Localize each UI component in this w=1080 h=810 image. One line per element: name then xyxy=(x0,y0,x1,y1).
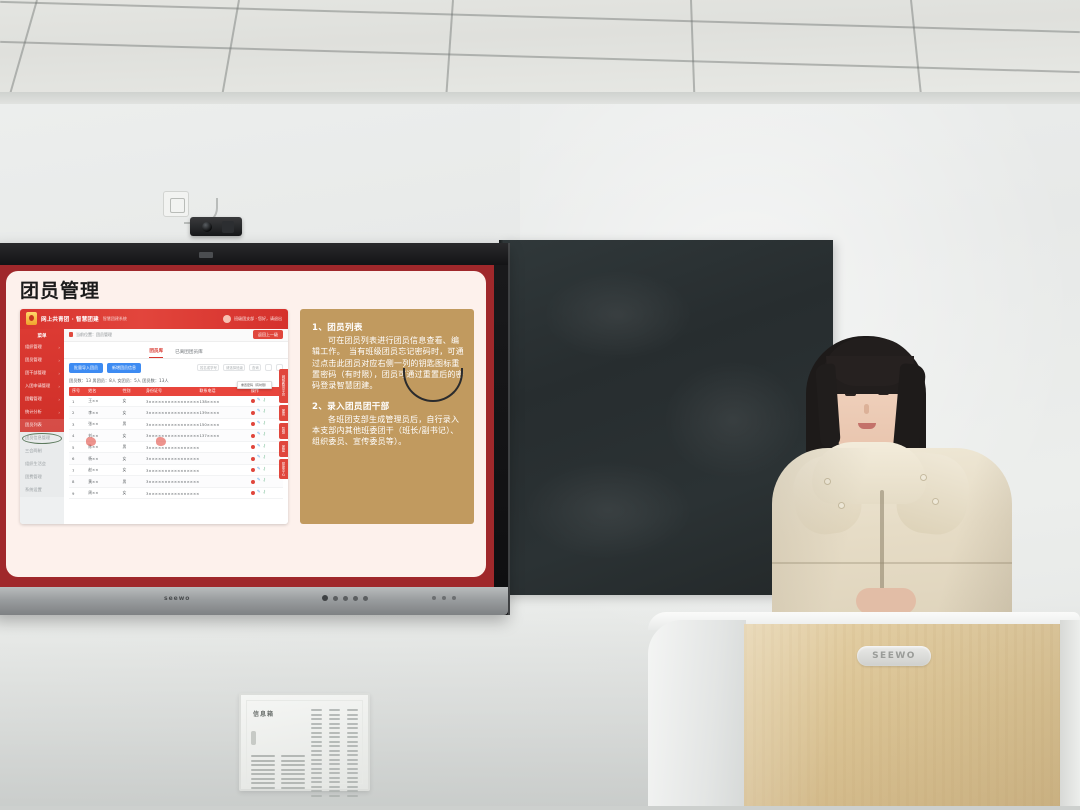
embedded-app-screenshot: 网上共青团 · 智慧团建 智慧团建系统 班级团支部 · 您好，请退出 xyxy=(20,309,288,524)
wall-panel-text-columns xyxy=(311,709,358,799)
table-row[interactable]: 4 刘×× 女 3×××××××××××××××× 137×××× ✎ xyxy=(69,430,283,442)
sidebar-gray-item-4[interactable]: 系统设置 xyxy=(20,484,64,497)
app-user-area[interactable]: 班级团支部 · 您好，请退出 xyxy=(223,315,282,323)
sidebar-item-label: 团籍管理 xyxy=(25,396,42,402)
display-indicator-lights xyxy=(432,596,456,600)
sidebar-item-label: 组织管理 xyxy=(25,344,42,350)
key-icon[interactable]: ⚷ xyxy=(263,468,266,473)
cell-id: 3×××××××××××××××× xyxy=(146,410,200,415)
cell-index: 1 xyxy=(69,399,88,404)
ceiling xyxy=(0,0,1080,96)
classroom-scene: 团员管理 网上共青团 · 智慧团建 智慧团建系统 班级团支部 · 您好，请退出 xyxy=(0,0,1080,810)
display-brand-label: seewo xyxy=(164,595,190,602)
cell-name: 刘×× xyxy=(88,433,122,439)
cell-id: 3×××××××××××××××× xyxy=(146,445,200,450)
wall-panel-text-block xyxy=(251,755,305,791)
app-subtitle: 智慧团建系统 xyxy=(103,316,127,322)
cell-id: 3×××××××××××××××× xyxy=(146,468,200,473)
cell-phone: 139×××× xyxy=(200,410,251,415)
delete-icon[interactable] xyxy=(251,445,255,449)
table-row[interactable]: 7 赵×× 女 3×××××××××××××××× ✎ xyxy=(69,465,283,477)
cell-name: 赵×× xyxy=(88,467,122,473)
app-header: 网上共青团 · 智慧团建 智慧团建系统 班级团支部 · 您好，请退出 xyxy=(20,309,288,329)
slide-notes-panel: 1、团员列表 可在团员列表进行团员信息查看、编辑工作。 当有班级团员忘记密码时，… xyxy=(300,309,474,524)
batch-import-button[interactable]: 批量导入团员 xyxy=(69,363,103,373)
app-toolbar[interactable]: 批量导入团员 新增团员信息 姓名或学号 请选择班级 查询 xyxy=(64,359,288,377)
chevron-right-icon: › xyxy=(58,371,60,376)
sidebar-item-label: 统计分析 xyxy=(25,409,42,415)
text-block-column xyxy=(281,755,305,791)
cell-gender: 女 xyxy=(122,433,146,439)
side-tab-1[interactable]: 团务 xyxy=(279,405,288,421)
table-row[interactable]: 6 杨×× 女 3×××××××××××××××× ✎ xyxy=(69,453,283,465)
podium-brand-badge: SEEWO xyxy=(857,646,931,666)
app-content: 当前位置：团员管理 返回上一级 团员库 已离团团员库 批量导入团员 xyxy=(64,329,288,524)
delete-icon[interactable] xyxy=(251,457,255,461)
delete-icon[interactable] xyxy=(251,468,255,472)
menu-button-icon[interactable] xyxy=(333,596,338,601)
sidebar-item-label: 入团申请管理 xyxy=(25,383,50,389)
member-table: 序号 姓名 性别 身份证号 联系电话 操作 1 xyxy=(64,387,288,500)
cell-gender: 女 xyxy=(122,410,146,416)
cell-gender: 男 xyxy=(122,444,146,450)
table-row[interactable]: 2 李×× 女 3×××××××××××××××× 139×××× ✎ xyxy=(69,407,283,419)
flame-logo-icon xyxy=(26,312,37,325)
cell-index: 5 xyxy=(69,445,88,450)
app-sidebar[interactable]: 菜单 组织管理 › 团员管理 › xyxy=(20,329,64,524)
breadcrumb: 当前位置：团员管理 返回上一级 xyxy=(64,329,288,342)
column-header: 序号 xyxy=(69,388,88,394)
table-row[interactable]: 1 王×× 女 3×××××××××××××××× 138×××× ✎ xyxy=(69,396,283,408)
wall-panel-title: 信息箱 xyxy=(253,709,274,718)
display-top-bezel xyxy=(0,243,508,265)
edit-icon[interactable]: ✎ xyxy=(257,433,261,438)
camera-sensor-icon xyxy=(222,221,234,233)
display-control-buttons[interactable] xyxy=(322,595,368,601)
cell-id: 3×××××××××××××××× xyxy=(146,456,200,461)
sidebar-item-1[interactable]: 团员管理 › xyxy=(20,354,64,367)
chevron-right-icon: › xyxy=(58,397,60,402)
key-icon[interactable]: ⚷ xyxy=(263,491,266,496)
side-tab-3[interactable]: 团建 xyxy=(279,441,288,457)
cell-gender: 女 xyxy=(122,398,146,404)
column-header: 姓名 xyxy=(88,388,122,394)
add-member-button[interactable]: 新增团员信息 xyxy=(107,363,141,373)
cell-id: 3×××××××××××××××× xyxy=(146,422,200,427)
edit-icon[interactable]: ✎ xyxy=(257,399,261,404)
cell-gender: 男 xyxy=(122,479,146,485)
cell-name: 陈×× xyxy=(88,444,122,450)
sidebar-item-label: 团费管理 xyxy=(25,474,42,480)
delete-icon[interactable] xyxy=(251,399,255,403)
breadcrumb-path: 当前位置：团员管理 xyxy=(76,332,112,338)
interactive-display[interactable]: 团员管理 网上共青团 · 智慧团建 智慧团建系统 班级团支部 · 您好，请退出 xyxy=(0,243,508,615)
chevron-right-icon: › xyxy=(58,345,60,350)
cell-id: 3×××××××××××××××× xyxy=(146,399,200,404)
sidebar-item-label: 系统设置 xyxy=(25,487,42,493)
sidebar-item-5[interactable]: 统计分析 › xyxy=(20,406,64,419)
cell-index: 3 xyxy=(69,422,88,427)
cell-index: 4 xyxy=(69,433,88,438)
key-icon[interactable]: ⚷ xyxy=(263,410,266,415)
query-button[interactable]: 查询 xyxy=(249,364,261,371)
podium-right-edge xyxy=(1060,620,1080,810)
column-header: 身份证号 xyxy=(146,388,200,394)
display-bottom-bezel: seewo xyxy=(0,587,508,615)
sidebar-item-2[interactable]: 团干部管理 › xyxy=(20,367,64,380)
cell-name: 李×× xyxy=(88,410,122,416)
nose xyxy=(864,404,869,414)
cell-name: 黄×× xyxy=(88,479,122,485)
sidebar-item-label: 团干部管理 xyxy=(25,370,46,376)
sidebar-header: 菜单 xyxy=(20,331,64,341)
sidebar-gray-item-0[interactable]: 团员信息管理 xyxy=(20,432,64,445)
tab-member-library[interactable]: 团员库 xyxy=(149,348,163,358)
power-button-icon[interactable] xyxy=(322,595,328,601)
chevron-right-icon: › xyxy=(58,384,60,389)
wall-info-panel[interactable]: 信息箱 xyxy=(239,693,370,791)
cell-id: 3×××××××××××××××× xyxy=(146,433,200,438)
key-icon[interactable]: ⚷ xyxy=(263,456,266,461)
notes-heading-2: 2、录入团员团干部 xyxy=(312,400,464,412)
edit-icon[interactable]: ✎ xyxy=(257,479,261,484)
cell-name: 周×× xyxy=(88,490,122,496)
chevron-right-icon: › xyxy=(58,410,60,415)
edit-icon[interactable]: ✎ xyxy=(257,422,261,427)
cell-gender: 男 xyxy=(122,421,146,427)
notes-heading-1: 1、团员列表 xyxy=(312,321,464,333)
edit-icon[interactable]: ✎ xyxy=(257,445,261,450)
key-icon[interactable]: ⚷ xyxy=(263,445,266,450)
podium-brand-label: SEEWO xyxy=(872,651,916,661)
name-search-input[interactable]: 姓名或学号 xyxy=(197,364,219,371)
app-tabs[interactable]: 团员库 已离团团员库 xyxy=(64,342,288,359)
cell-index: 9 xyxy=(69,491,88,496)
text-column xyxy=(311,709,322,799)
table-row[interactable]: 5 陈×× 男 3×××××××××××××××× ✎ xyxy=(69,442,283,454)
text-column xyxy=(329,709,340,799)
cell-index: 6 xyxy=(69,456,88,461)
table-row[interactable]: 3 张×× 男 3×××××××××××××××× 150×××× ✎ xyxy=(69,419,283,431)
cell-name: 张×× xyxy=(88,421,122,427)
sidebar-item-label: 团员列表 xyxy=(25,422,42,428)
app-user-label: 班级团支部 · 您好，请退出 xyxy=(234,316,282,322)
text-column xyxy=(347,709,358,799)
cell-id: 3×××××××××××××××× xyxy=(146,491,200,496)
reset-icon[interactable] xyxy=(265,364,272,371)
cell-name: 杨×× xyxy=(88,456,122,462)
row-actions[interactable]: ✎ ⚷ xyxy=(251,491,283,496)
sidebar-item-3[interactable]: 入团申请管理 › xyxy=(20,380,64,393)
presenter xyxy=(760,330,1020,630)
wall-camera xyxy=(190,217,242,236)
key-icon[interactable]: ⚷ xyxy=(263,399,266,404)
sidebar-gray-item-1[interactable]: 三会两制 xyxy=(20,445,64,458)
class-select[interactable]: 请选择班级 xyxy=(223,364,245,371)
sidebar-item-4[interactable]: 团籍管理 › xyxy=(20,393,64,406)
edit-icon[interactable]: ✎ xyxy=(257,468,261,473)
table-row[interactable]: 8 黄×× 男 3×××××××××××××××× ✎ xyxy=(69,476,283,488)
sidebar-gray-item-2[interactable]: 组织生活会 xyxy=(20,458,64,471)
cell-gender: 女 xyxy=(122,456,146,462)
text-block-column xyxy=(251,755,275,791)
cell-phone: 137×××× xyxy=(200,433,251,438)
camera-lens-icon xyxy=(202,222,212,232)
filter-group[interactable]: 姓名或学号 请选择班级 查询 xyxy=(197,364,283,371)
cell-id: 3×××××××××××××××× xyxy=(146,479,200,484)
cell-phone: 138×××× xyxy=(200,399,251,404)
floor-edge xyxy=(0,806,1080,810)
table-row[interactable]: 9 周×× 女 3×××××××××××××××× ✎ xyxy=(69,488,283,500)
notes-body-2: 各班团支部生成管理员后，自行录入本支部内其他班委团干（班长/副书记）、组织委员、… xyxy=(312,414,464,448)
display-screen[interactable]: 团员管理 网上共青团 · 智慧团建 智慧团建系统 班级团支部 · 您好，请退出 xyxy=(0,265,494,587)
key-icon[interactable]: ⚷ xyxy=(263,433,266,438)
sidebar-item-label: 三会两制 xyxy=(25,448,42,454)
cell-index: 7 xyxy=(69,468,88,473)
location-icon xyxy=(69,332,73,337)
avatar xyxy=(223,315,231,323)
presentation-slide: 团员管理 网上共青团 · 智慧团建 智慧团建系统 班级团支部 · 您好，请退出 xyxy=(0,265,494,587)
column-header: 性别 xyxy=(122,388,146,394)
cell-index: 8 xyxy=(69,479,88,484)
cell-phone: 150×××× xyxy=(200,422,251,427)
delete-icon[interactable] xyxy=(251,434,255,438)
sidebar-gray-item-3[interactable]: 团费管理 xyxy=(20,471,64,484)
delete-icon[interactable] xyxy=(251,411,255,415)
edit-icon[interactable]: ✎ xyxy=(257,410,261,415)
sidebar-item-label: 组织生活会 xyxy=(25,461,46,467)
cell-gender: 女 xyxy=(122,490,146,496)
back-button[interactable]: 返回上一级 xyxy=(253,330,283,339)
sidebar-item-0[interactable]: 组织管理 › xyxy=(20,341,64,354)
app-title: 网上共青团 · 智慧团建 xyxy=(41,315,99,323)
side-tab-2[interactable]: 智慧 xyxy=(279,423,288,439)
volume-down-icon[interactable] xyxy=(343,596,348,601)
column-header: 联系电话 xyxy=(200,388,251,394)
sidebar-item-label: 团员信息管理 xyxy=(25,435,50,441)
tab-left-member-library[interactable]: 已离团团员库 xyxy=(175,349,203,358)
wall-panel-slot xyxy=(251,731,256,745)
delete-icon[interactable] xyxy=(251,491,255,495)
delete-icon[interactable] xyxy=(251,480,255,484)
sidebar-item-6-selected[interactable]: 团员列表 xyxy=(20,419,64,432)
ir-sensor-icon xyxy=(199,252,213,258)
side-tab-4[interactable]: 帮助中心 xyxy=(279,459,288,479)
key-icon[interactable]: ⚷ xyxy=(263,479,266,484)
side-tab-0[interactable]: 网络教育平台 xyxy=(279,369,288,403)
sidebar-item-label: 团员管理 xyxy=(25,357,42,363)
edit-icon[interactable]: ✎ xyxy=(257,456,261,461)
floating-side-tabs[interactable]: 网络教育平台 团务 智慧 团建 帮助中心 xyxy=(279,369,288,479)
delete-icon[interactable] xyxy=(251,422,255,426)
reset-password-tooltip: 重置密码（有时限） xyxy=(237,381,272,389)
hands xyxy=(856,588,916,614)
key-icon[interactable]: ⚷ xyxy=(263,422,266,427)
slide-title: 团员管理 xyxy=(20,281,474,302)
row-actions[interactable]: ✎ ⚷ xyxy=(251,479,283,484)
edit-icon[interactable]: ✎ xyxy=(257,491,261,496)
source-button-icon[interactable] xyxy=(363,596,368,601)
volume-up-icon[interactable] xyxy=(353,596,358,601)
cell-gender: 女 xyxy=(122,467,146,473)
podium-left-side xyxy=(648,620,746,810)
chevron-right-icon: › xyxy=(58,358,60,363)
cell-name: 王×× xyxy=(88,398,122,404)
cell-index: 2 xyxy=(69,410,88,415)
